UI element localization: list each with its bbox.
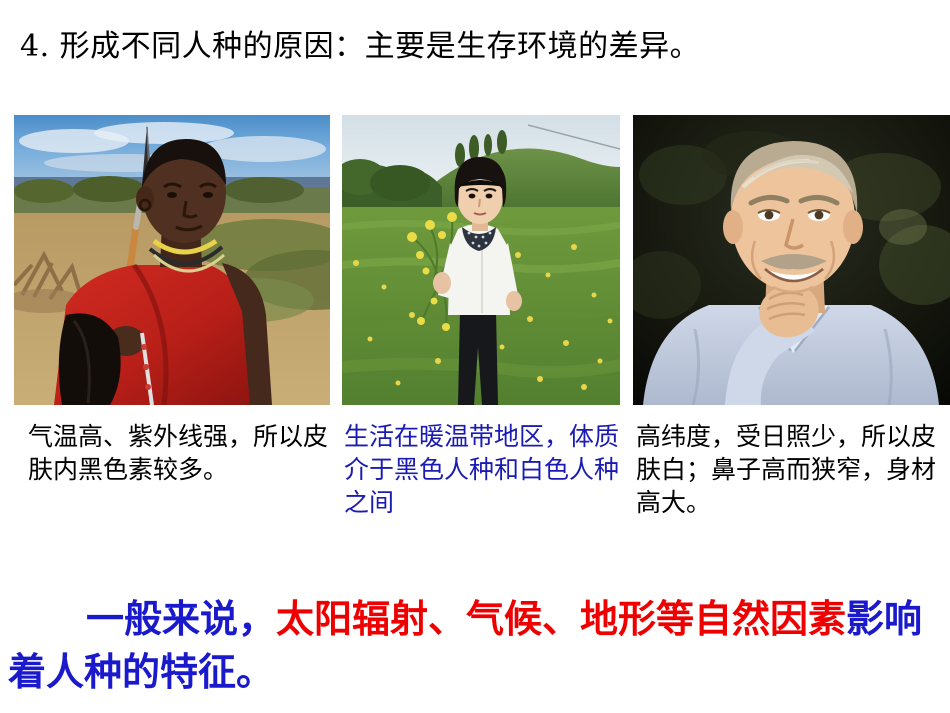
photo-asian-child-in-field bbox=[342, 115, 620, 405]
caption-african: 气温高、紫外线强，所以皮肤内黑色素较多。 bbox=[28, 420, 328, 486]
conclusion-part1: 一般来说， bbox=[86, 596, 276, 641]
african-man-illustration bbox=[14, 115, 330, 405]
european-man-illustration bbox=[633, 115, 950, 405]
caption-asian: 生活在暖温带地区，体质介于黑色人种和白色人种之间 bbox=[344, 420, 624, 519]
page-title: 4. 形成不同人种的原因：主要是生存环境的差异。 bbox=[20, 28, 700, 66]
asian-child-illustration bbox=[342, 115, 620, 405]
photo-african-man-with-spear bbox=[14, 115, 330, 405]
conclusion-part2: 太阳辐射、气候、地形等自然因素 bbox=[276, 596, 846, 641]
caption-european: 高纬度，受日照少，所以皮肤白；鼻子高而狭窄，身材高大。 bbox=[636, 420, 946, 519]
conclusion-text: 一般来说，太阳辐射、气候、地形等自然因素影响着人种的特征。 bbox=[8, 592, 948, 698]
photo-european-man-portrait bbox=[633, 115, 950, 405]
photo-row bbox=[0, 115, 950, 405]
